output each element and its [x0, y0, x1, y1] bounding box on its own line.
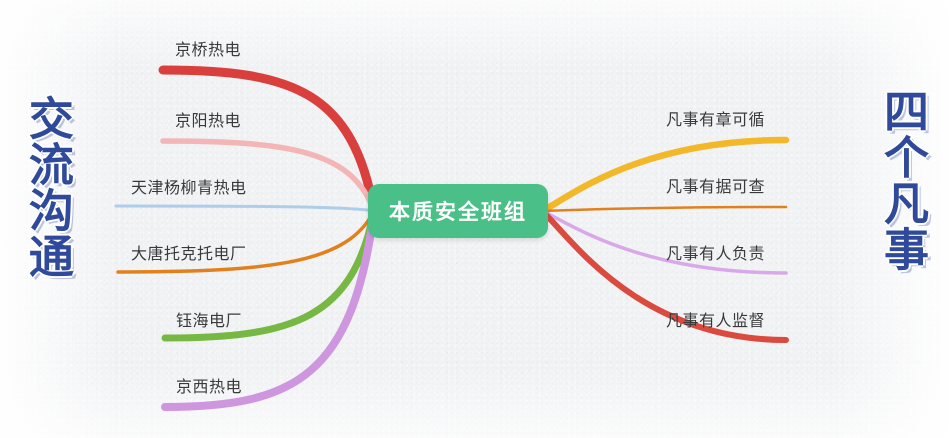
branch-curve-l-3 [116, 206, 374, 211]
left-side-title: 交流沟通 [24, 95, 70, 279]
branch-label-l-4[interactable]: 大唐托克托电厂 [131, 240, 247, 264]
center-node[interactable]: 本质安全班组 [368, 184, 548, 238]
branch-label-l-3[interactable]: 天津杨柳青热电 [131, 174, 247, 198]
branch-label-l-1[interactable]: 京桥热电 [175, 36, 241, 60]
mindmap-canvas: 交流沟通 四个凡事 京桥热电京阳热电天津杨柳青热电大唐托克托电厂钰海电厂京西热电… [0, 0, 949, 438]
branch-label-r-2[interactable]: 凡事有据可查 [666, 173, 765, 197]
branch-label-l-2[interactable]: 京阳热电 [175, 107, 241, 131]
right-side-title: 四个凡事 [879, 88, 925, 272]
branch-label-r-3[interactable]: 凡事有人负责 [666, 240, 765, 264]
branch-label-r-4[interactable]: 凡事有人监督 [666, 307, 765, 331]
branch-label-l-5[interactable]: 钰海电厂 [176, 307, 242, 331]
branch-label-r-1[interactable]: 凡事有章可循 [666, 106, 765, 130]
branch-label-l-6[interactable]: 京西热电 [176, 373, 242, 397]
center-node-label: 本质安全班组 [389, 196, 527, 226]
branch-curve-r-2 [542, 207, 786, 211]
